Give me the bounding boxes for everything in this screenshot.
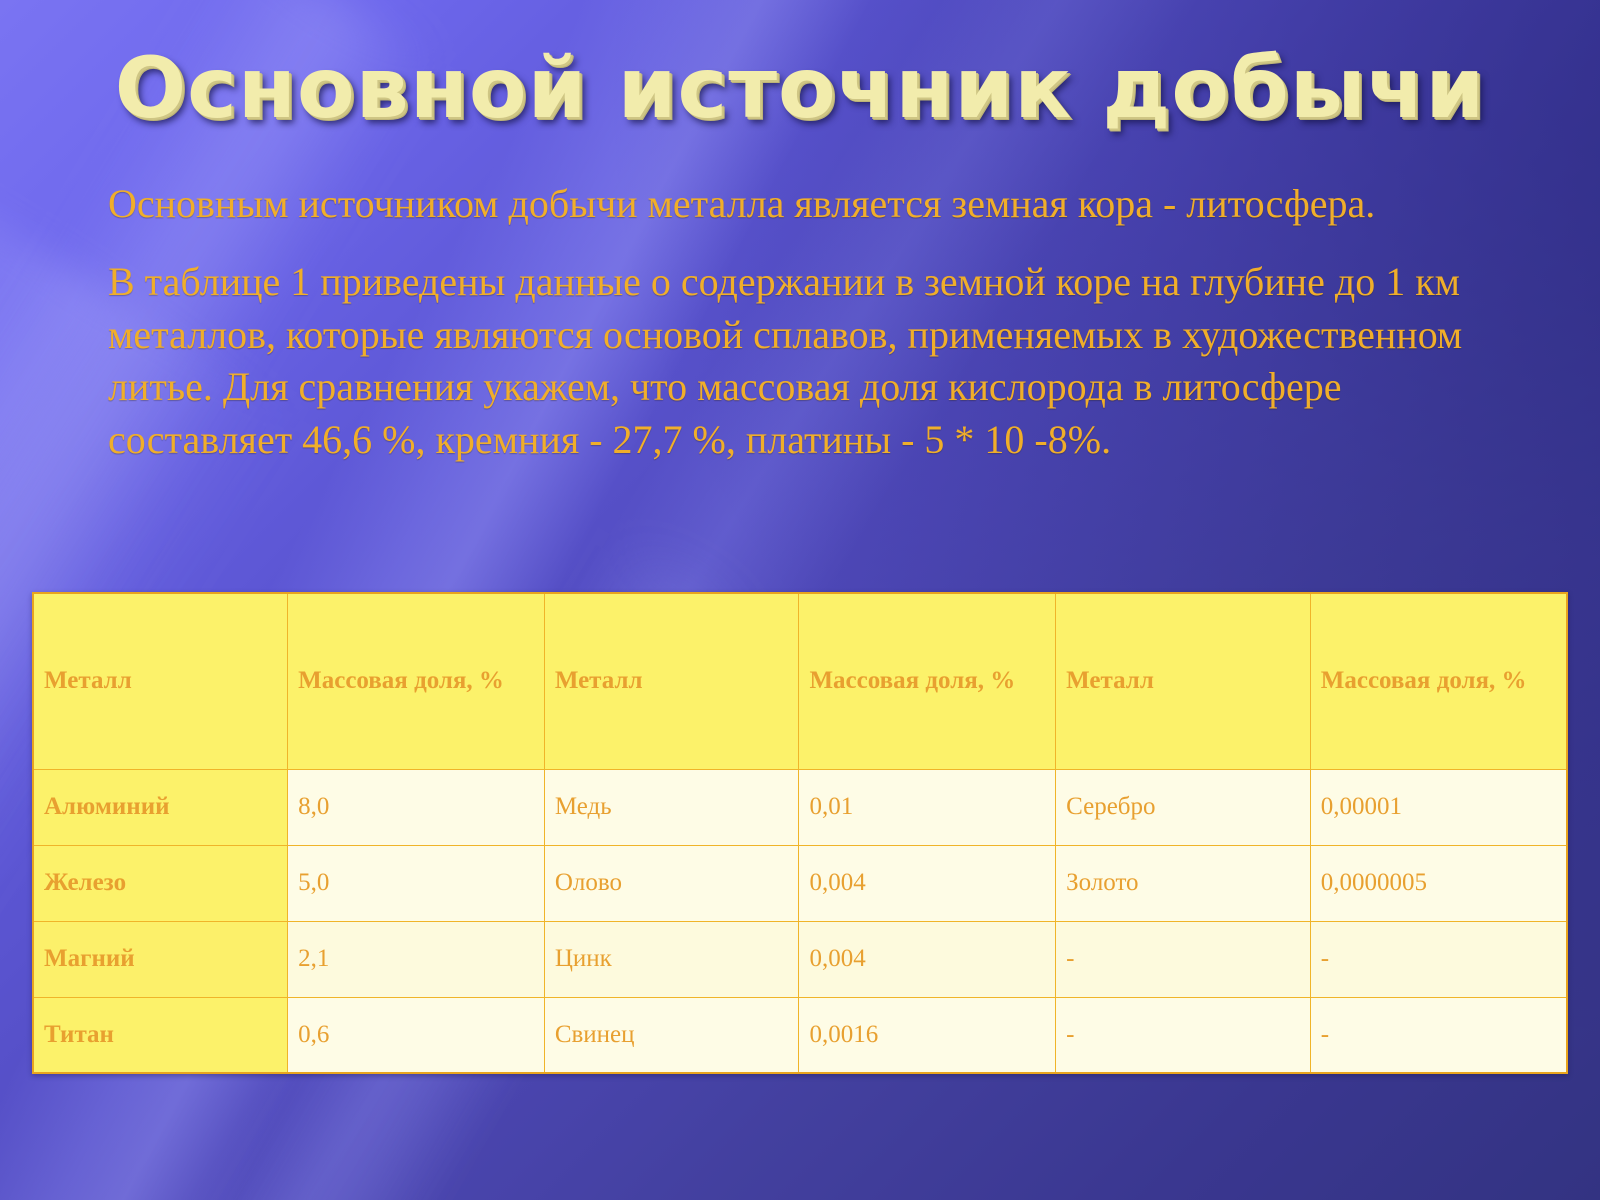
cell-massfrac: 0,004 [799, 845, 1056, 921]
table-row: Магний 2,1 Цинк 0,004 - - [33, 921, 1567, 997]
cell-massfrac: 0,0000005 [1310, 845, 1567, 921]
cell-massfrac: - [1310, 921, 1567, 997]
metal-content-table: Металл Массовая доля, % Металл Массовая … [32, 592, 1568, 1074]
cell-metal: Свинец [544, 997, 799, 1073]
table-body: Алюминий 8,0 Медь 0,01 Серебро 0,00001 Ж… [33, 769, 1567, 1073]
column-header-massfrac-1: Массовая доля, % [288, 593, 545, 769]
cell-metal: Магний [33, 921, 288, 997]
title-container: Основной источник добычи [0, 46, 1600, 130]
cell-metal: Медь [544, 769, 799, 845]
cell-metal: Алюминий [33, 769, 288, 845]
table-row: Железо 5,0 Олово 0,004 Золото 0,0000005 [33, 845, 1567, 921]
cell-metal: Цинк [544, 921, 799, 997]
column-header-massfrac-3: Массовая доля, % [1310, 593, 1567, 769]
cell-metal: - [1056, 921, 1311, 997]
metal-content-table-container: Металл Массовая доля, % Металл Массовая … [32, 592, 1568, 1074]
cell-massfrac: 8,0 [288, 769, 545, 845]
cell-massfrac: - [1310, 997, 1567, 1073]
cell-massfrac: 0,00001 [1310, 769, 1567, 845]
column-header-metal-3: Металл [1056, 593, 1311, 769]
body-text-block: Основным источником добычи металла являе… [108, 178, 1508, 466]
body-paragraph-2: В таблице 1 приведены данные о содержани… [108, 256, 1508, 466]
table-row: Алюминий 8,0 Медь 0,01 Серебро 0,00001 [33, 769, 1567, 845]
cell-massfrac: 0,0016 [799, 997, 1056, 1073]
cell-massfrac: 0,6 [288, 997, 545, 1073]
cell-massfrac: 0,01 [799, 769, 1056, 845]
cell-metal: Золото [1056, 845, 1311, 921]
cell-metal: Серебро [1056, 769, 1311, 845]
table-header-row: Металл Массовая доля, % Металл Массовая … [33, 593, 1567, 769]
cell-metal: Железо [33, 845, 288, 921]
page-title: Основной источник добычи [115, 46, 1486, 130]
cell-metal: - [1056, 997, 1311, 1073]
cell-metal: Олово [544, 845, 799, 921]
cell-massfrac: 5,0 [288, 845, 545, 921]
body-paragraph-1: Основным источником добычи металла являе… [108, 178, 1508, 230]
cell-metal: Титан [33, 997, 288, 1073]
column-header-metal-1: Металл [33, 593, 288, 769]
cell-massfrac: 2,1 [288, 921, 545, 997]
table-row: Титан 0,6 Свинец 0,0016 - - [33, 997, 1567, 1073]
column-header-massfrac-2: Массовая доля, % [799, 593, 1056, 769]
cell-massfrac: 0,004 [799, 921, 1056, 997]
column-header-metal-2: Металл [544, 593, 799, 769]
